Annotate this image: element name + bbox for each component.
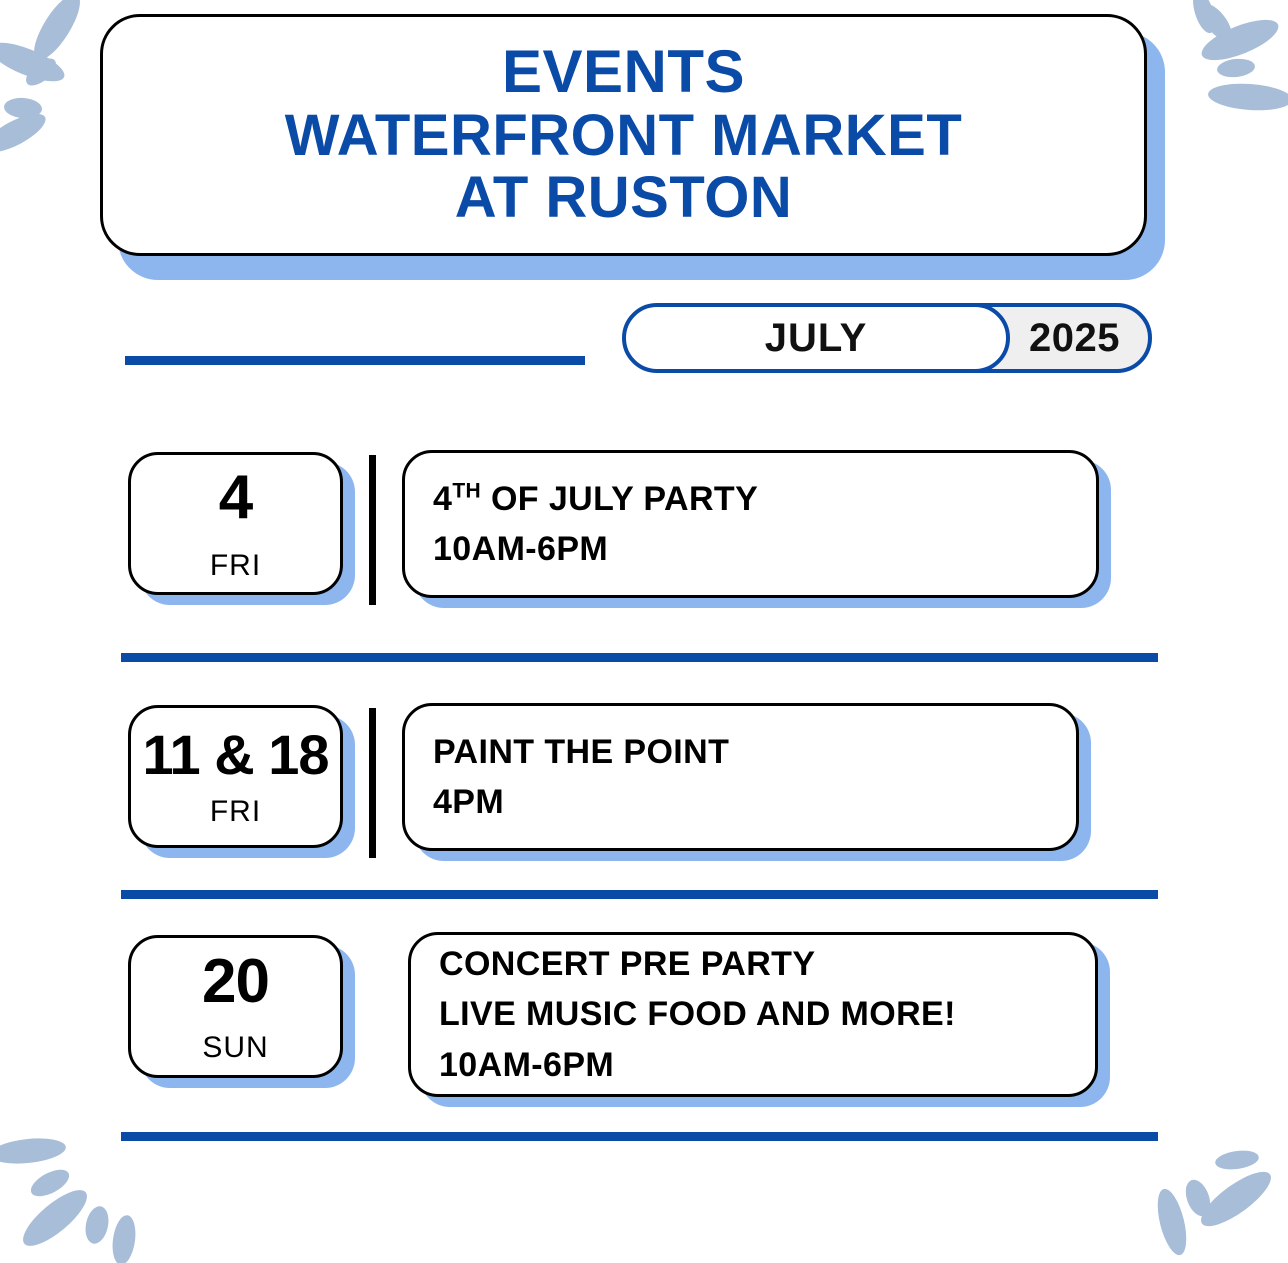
month-pill: JULY	[622, 303, 1010, 373]
event-detail: LIVE MUSIC FOOD AND MORE!	[439, 989, 1095, 1039]
event-card: PAINT THE POINT 4PM	[402, 703, 1079, 851]
event-detail: 4PM	[433, 777, 1076, 827]
splash-top-right-icon	[1189, 0, 1288, 113]
accent-rule-full	[121, 890, 1158, 899]
header-title-line-2: WATERFRONT MARKET	[285, 105, 963, 168]
row-divider-bar	[369, 455, 376, 605]
date-number: 11 & 18	[142, 727, 328, 783]
event-title: PAINT THE POINT	[433, 727, 1076, 777]
year-label: 2025	[1029, 316, 1120, 361]
accent-rule-full	[121, 653, 1158, 662]
accent-rule-full	[121, 1132, 1158, 1141]
date-day-of-week: FRI	[210, 797, 261, 827]
event-title: CONCERT PRE PARTY	[439, 939, 1095, 989]
date-day-of-week: FRI	[210, 551, 261, 581]
month-year-badge: 2025 JULY	[622, 303, 1152, 373]
date-card: 4 FRI	[128, 452, 343, 595]
date-card: 20 SUN	[128, 935, 343, 1078]
header: EVENTS WATERFRONT MARKET AT RUSTON	[100, 14, 1165, 262]
date-card: 11 & 18 FRI	[128, 705, 343, 848]
month-label: JULY	[765, 316, 868, 361]
event-detail: 10AM-6PM	[433, 524, 1096, 574]
event-card: CONCERT PRE PARTY LIVE MUSIC FOOD AND MO…	[408, 932, 1098, 1097]
accent-rule-short	[125, 356, 585, 365]
header-title-line-3: AT RUSTON	[455, 167, 792, 230]
event-card: 4TH OF JULY PARTY 10AM-6PM	[402, 450, 1099, 598]
splash-top-left-icon	[0, 0, 88, 160]
splash-bottom-left-icon	[0, 1135, 138, 1263]
header-title-line-1: EVENTS	[502, 40, 745, 105]
splash-bottom-right-icon	[1152, 1148, 1278, 1258]
row-divider-bar	[369, 708, 376, 858]
date-number: 4	[219, 467, 252, 529]
header-card: EVENTS WATERFRONT MARKET AT RUSTON	[100, 14, 1147, 256]
event-poster: EVENTS WATERFRONT MARKET AT RUSTON 2025 …	[0, 0, 1288, 1263]
date-number: 20	[202, 951, 269, 1013]
date-day-of-week: SUN	[202, 1033, 268, 1063]
event-detail: 10AM-6PM	[439, 1040, 1095, 1090]
event-title: 4TH OF JULY PARTY	[433, 474, 1096, 524]
